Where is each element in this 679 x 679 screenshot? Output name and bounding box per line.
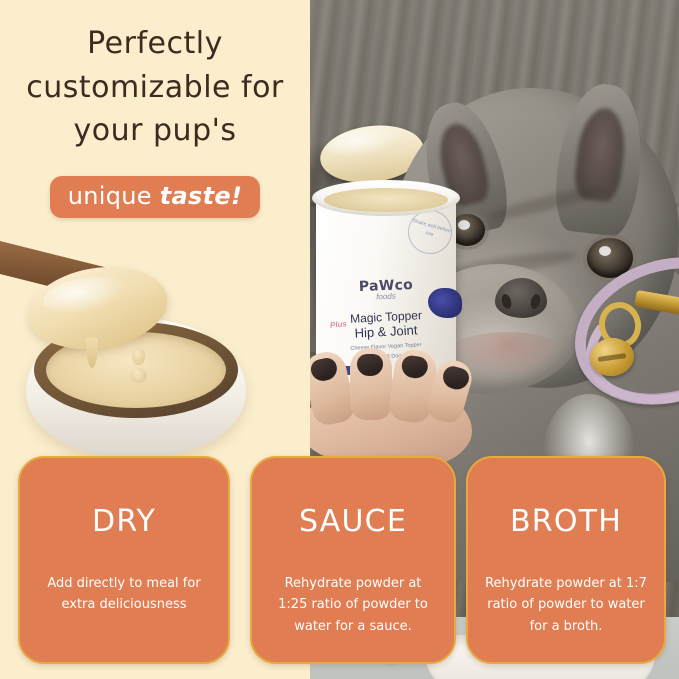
fingernail <box>357 354 383 376</box>
dog-ear-right <box>550 80 650 239</box>
badge-container: unique taste! <box>0 176 310 218</box>
unique-taste-badge: unique taste! <box>50 176 260 218</box>
badge-emphasis: taste! <box>160 182 242 210</box>
tub-powder-contents <box>324 188 448 212</box>
headline: Perfectly customizable for your pup's <box>0 22 310 153</box>
card-title: DRY <box>20 504 228 539</box>
finger <box>350 348 392 420</box>
badge-prefix: unique <box>68 182 160 210</box>
dog-nose <box>495 278 547 318</box>
usage-card-broth[interactable]: BROTH Rehydrate powder at 1:7 ratio of p… <box>466 456 666 664</box>
usage-cards: DRY Add directly to meal for extra delic… <box>0 444 679 679</box>
wooden-spoon <box>0 242 224 360</box>
card-title: SAUCE <box>252 504 454 539</box>
usage-card-sauce[interactable]: SAUCE Rehydrate powder at 1:25 ratio of … <box>250 456 456 664</box>
sauce-droplet <box>130 368 147 383</box>
usage-card-dry[interactable]: DRY Add directly to meal for extra delic… <box>18 456 230 664</box>
headline-line-2: customizable for <box>0 66 310 110</box>
card-description: Rehydrate powder at 1:25 ratio of powder… <box>268 573 438 637</box>
fingernail <box>440 364 471 392</box>
card-title: BROTH <box>468 504 664 539</box>
card-description: Rehydrate powder at 1:7 ratio of powder … <box>484 573 648 637</box>
fingernail <box>310 356 339 383</box>
card-description: Add directly to meal for extra delicious… <box>36 573 212 616</box>
product-infographic: Shake well before use PaWco foods Magic … <box>0 0 679 679</box>
fingernail <box>400 354 429 379</box>
headline-line-3: your pup's <box>0 109 310 153</box>
headline-line-1: Perfectly <box>0 22 310 66</box>
